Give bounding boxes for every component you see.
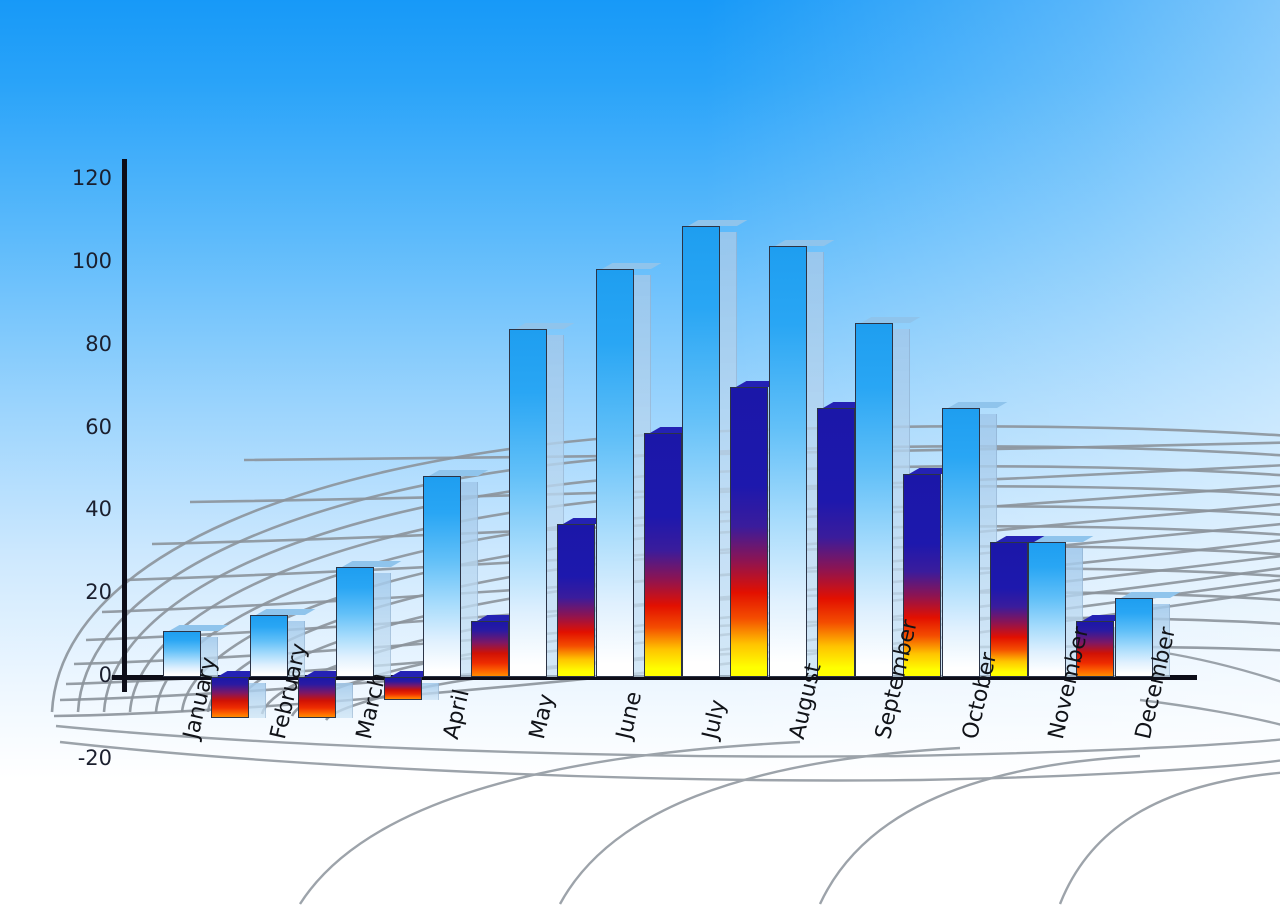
bar-september-series1 <box>855 323 893 677</box>
bar-june-series2 <box>644 433 682 677</box>
bar-front-face <box>471 621 509 677</box>
bar-august-series1 <box>769 246 807 677</box>
bar-front-face <box>423 476 461 677</box>
bar-front-face <box>509 329 547 677</box>
y-tick-80: 80 <box>52 332 112 356</box>
bar-may-series1 <box>509 329 547 677</box>
bar-april-series1 <box>423 476 461 677</box>
y-axis-line <box>122 159 127 692</box>
y-tick-60: 60 <box>52 415 112 439</box>
bar-side-face <box>335 683 353 718</box>
bar-front-face <box>817 408 855 677</box>
bar-front-face <box>644 433 682 677</box>
bar-april-series2 <box>471 621 509 677</box>
y-tick-neg20: -20 <box>52 746 112 770</box>
bar-august-series2 <box>817 408 855 677</box>
bar-july-series1 <box>682 226 720 677</box>
bar-side-face <box>373 573 391 677</box>
bar-june-series1 <box>596 269 634 677</box>
bar-november-series1 <box>1028 542 1066 677</box>
bar-front-face <box>1028 542 1066 677</box>
bar-july-series2 <box>730 387 768 677</box>
bar-front-face <box>336 567 374 677</box>
x-label-july: July <box>698 697 731 741</box>
bar-front-face <box>769 246 807 677</box>
x-label-april: April <box>439 687 475 742</box>
y-tick-40: 40 <box>52 497 112 521</box>
bar-side-face <box>421 683 439 700</box>
chart-canvas: 120100806040200-20 JanuaryFebruaryMarchA… <box>0 0 1280 905</box>
bar-front-face <box>682 226 720 677</box>
bar-october-series1 <box>942 408 980 677</box>
bar-side-face <box>248 683 266 718</box>
x-label-march: March <box>352 671 391 742</box>
y-tick-100: 100 <box>52 249 112 273</box>
bar-march-series1 <box>336 567 374 677</box>
bar-may-series2 <box>557 524 595 677</box>
bar-front-face <box>730 387 768 677</box>
bar-front-face <box>855 323 893 677</box>
bar-front-face <box>942 408 980 677</box>
x-label-may: May <box>525 692 560 742</box>
y-tick-0: 0 <box>52 663 112 687</box>
bar-front-face <box>557 524 595 677</box>
y-tick-20: 20 <box>52 580 112 604</box>
x-label-june: June <box>612 689 647 741</box>
bar-front-face <box>596 269 634 677</box>
plot-area: 120100806040200-20 JanuaryFebruaryMarchA… <box>0 0 1280 905</box>
y-tick-120: 120 <box>52 166 112 190</box>
